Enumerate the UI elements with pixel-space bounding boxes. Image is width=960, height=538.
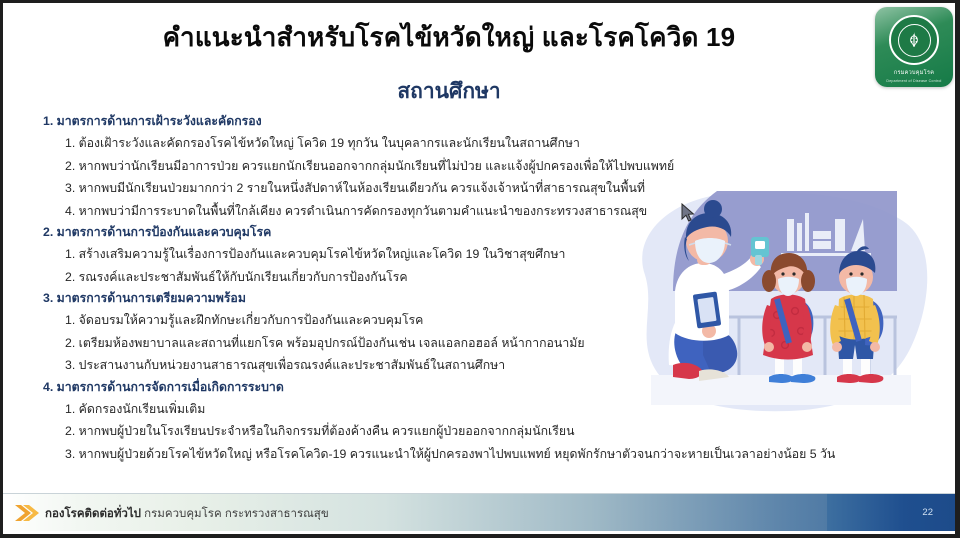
section-3-items: 1. จัดอบรมให้ความรู้และฝึกทักษะเกี่ยวกับ… [3,309,955,377]
section-4-items: 1. คัดกรองนักเรียนเพิ่มเติม 2. หากพบผู้ป… [3,398,955,466]
list-item: 1. ต้องเฝ้าระวังและคัดกรองโรคไข้หวัดใหญ่… [3,132,955,155]
list-item: 1. สร้างเสริมความรู้ในเรื่องการป้องกันแล… [3,243,955,266]
slide-title: คำแนะนำสำหรับโรคไข้หวัดใหญ่ และโรคโควิด … [3,17,955,58]
list-item: 1. คัดกรองนักเรียนเพิ่มเติม [3,398,955,421]
list-item: 3. ประสานงานกับหน่วยงานสาธารณสุขเพื่อรณร… [3,354,955,377]
slide-footer: กองโรคติดต่อทั่วไป กรมควบคุมโรค กระทรวงส… [3,493,955,531]
footer-organization: กองโรคติดต่อทั่วไป กรมควบคุมโรค กระทรวงส… [45,505,329,523]
section-3-heading: 3. มาตรการด้านการเตรียมความพร้อม [3,288,955,309]
section-3: 3. มาตรการด้านการเตรียมความพร้อม 1. จัดอ… [3,288,955,377]
section-1-items: 1. ต้องเฝ้าระวังและคัดกรองโรคไข้หวัดใหญ่… [3,132,955,222]
section-1-heading: 1. มาตรการด้านการเฝ้าระวังและคัดกรอง [3,111,955,132]
footer-org-bold: กองโรคติดต่อทั่วไป [45,508,141,520]
list-item: 3. หากพบมีนักเรียนป่วยมากกว่า 2 รายในหนึ… [3,177,955,200]
slide-viewer: กรมควบคุมโรค Department of Disease Contr… [0,0,960,538]
section-2: 2. มาตรการด้านการป้องกันและควบคุมโรค 1. … [3,222,955,288]
section-1: 1. มาตรการด้านการเฝ้าระวังและคัดกรอง 1. … [3,111,955,222]
slide-body: 1. มาตรการด้านการเฝ้าระวังและคัดกรอง 1. … [3,111,955,465]
section-4: 4. มาตรการด้านการจัดการเมื่อเกิดการระบาด… [3,377,955,466]
section-2-items: 1. สร้างเสริมความรู้ในเรื่องการป้องกันแล… [3,243,955,288]
page-number-badge: 22 [827,494,955,531]
list-item: 3. หากพบผู้ป่วยด้วยโรคไข้หวัดใหญ่ หรือโร… [3,443,955,466]
slide-subtitle: สถานศึกษา [3,75,955,108]
list-item: 2. เตรียมห้องพยาบาลและสถานที่แยกโรค พร้อ… [3,332,955,355]
list-item: 2. หากพบว่านักเรียนมีอาการป่วย ควรแยกนัก… [3,155,955,178]
list-item: 2. หากพบผู้ป่วยในโรงเรียนประจำหรือในกิจก… [3,420,955,443]
list-item: 1. จัดอบรมให้ความรู้และฝึกทักษะเกี่ยวกับ… [3,309,955,332]
section-4-heading: 4. มาตรการด้านการจัดการเมื่อเกิดการระบาด [3,377,955,398]
page-number: 22 [922,507,933,518]
slide-canvas: กรมควบคุมโรค Department of Disease Contr… [3,3,955,534]
section-2-heading: 2. มาตรการด้านการป้องกันและควบคุมโรค [3,222,955,243]
footer-org-rest: กรมควบคุมโรค กระทรวงสาธารณสุข [144,508,329,520]
chevron-right-icon [13,503,39,523]
list-item: 4. หากพบว่ามีการระบาดในพื้นที่ใกล้เคียง … [3,200,955,223]
list-item: 2. รณรงค์และประชาสัมพันธ์ให้กับนักเรียนเ… [3,266,955,289]
